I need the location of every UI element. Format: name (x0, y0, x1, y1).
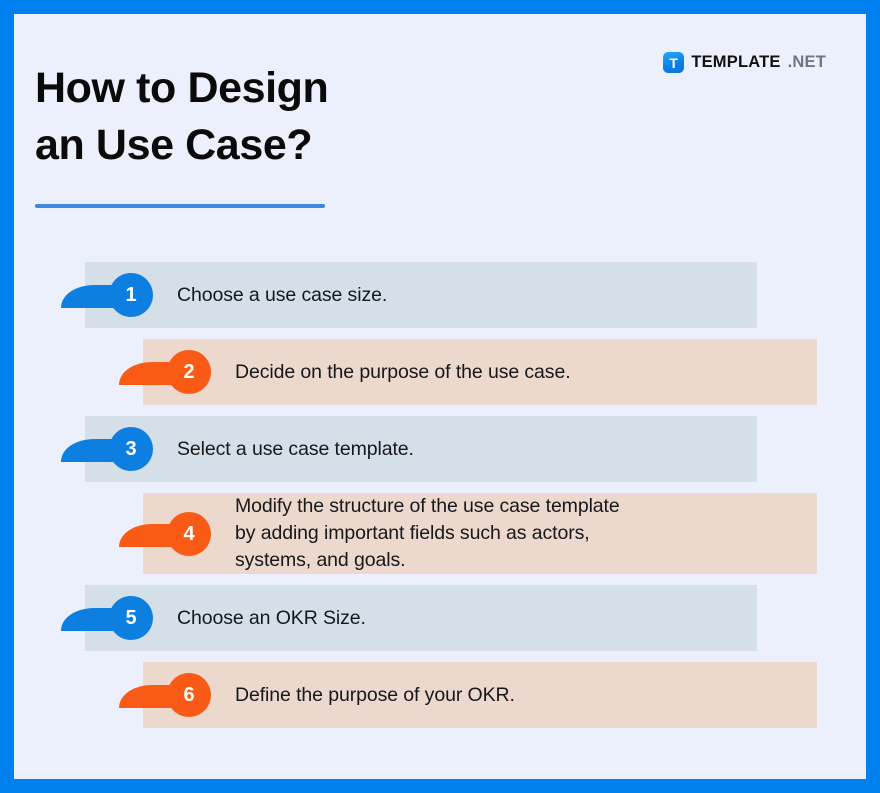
step-text-line: Select a use case template. (177, 436, 414, 463)
step-text: Select a use case template. (177, 436, 414, 463)
step-spacer (14, 405, 866, 416)
step-number-badge: 4 (119, 512, 211, 556)
step-text-line: Decide on the purpose of the use case. (235, 359, 571, 386)
step-number-badge: 6 (119, 673, 211, 717)
brand-name-primary: TEMPLATE (691, 54, 780, 71)
step-bar: 6Define the purpose of your OKR. (143, 662, 817, 728)
step-text: Modify the structure of the use case tem… (235, 493, 620, 574)
brand-name-secondary: .NET (788, 54, 826, 71)
step-bar: 4Modify the structure of the use case te… (143, 493, 817, 574)
step-number: 4 (167, 512, 211, 556)
step-bar: 5Choose an OKR Size. (85, 585, 757, 651)
step-number: 3 (109, 427, 153, 471)
step-text: Decide on the purpose of the use case. (235, 359, 571, 386)
step-number-badge: 2 (119, 350, 211, 394)
page-title: How to Design an Use Case? (35, 60, 595, 174)
step-bar: 2Decide on the purpose of the use case. (143, 339, 817, 405)
step-text: Choose a use case size. (177, 282, 387, 309)
step-spacer (14, 482, 866, 493)
step-text: Define the purpose of your OKR. (235, 682, 515, 709)
step-number-badge: 3 (61, 427, 153, 471)
brand-logo: T TEMPLATE.NET (663, 52, 826, 73)
step-number-badge: 1 (61, 273, 153, 317)
step-text-line: Define the purpose of your OKR. (235, 682, 515, 709)
step-item: 4Modify the structure of the use case te… (14, 493, 866, 574)
steps-list: 1Choose a use case size.2Decide on the p… (14, 262, 866, 728)
step-text-line: systems, and goals. (235, 547, 620, 574)
title-underline (35, 204, 325, 208)
step-text-line: by adding important fields such as actor… (235, 520, 620, 547)
step-item: 3Select a use case template. (14, 416, 866, 482)
step-item: 6Define the purpose of your OKR. (14, 662, 866, 728)
step-text-line: Choose a use case size. (177, 282, 387, 309)
step-text-line: Modify the structure of the use case tem… (235, 493, 620, 520)
step-number: 6 (167, 673, 211, 717)
step-spacer (14, 574, 866, 585)
poster-canvas: T TEMPLATE.NET How to Design an Use Case… (14, 14, 866, 779)
step-bar: 3Select a use case template. (85, 416, 757, 482)
step-number: 5 (109, 596, 153, 640)
page-title-line-1: How to Design (35, 60, 595, 117)
step-number: 2 (167, 350, 211, 394)
step-text-line: Choose an OKR Size. (177, 605, 366, 632)
step-number-badge: 5 (61, 596, 153, 640)
page-title-line-2: an Use Case? (35, 117, 595, 174)
step-bar: 1Choose a use case size. (85, 262, 757, 328)
step-number: 1 (109, 273, 153, 317)
step-text: Choose an OKR Size. (177, 605, 366, 632)
step-item: 1Choose a use case size. (14, 262, 866, 328)
brand-mark-letter: T (669, 56, 678, 70)
poster-frame: T TEMPLATE.NET How to Design an Use Case… (0, 0, 880, 793)
step-spacer (14, 328, 866, 339)
step-spacer (14, 651, 866, 662)
template-net-icon: T (663, 52, 684, 73)
step-item: 5Choose an OKR Size. (14, 585, 866, 651)
step-item: 2Decide on the purpose of the use case. (14, 339, 866, 405)
